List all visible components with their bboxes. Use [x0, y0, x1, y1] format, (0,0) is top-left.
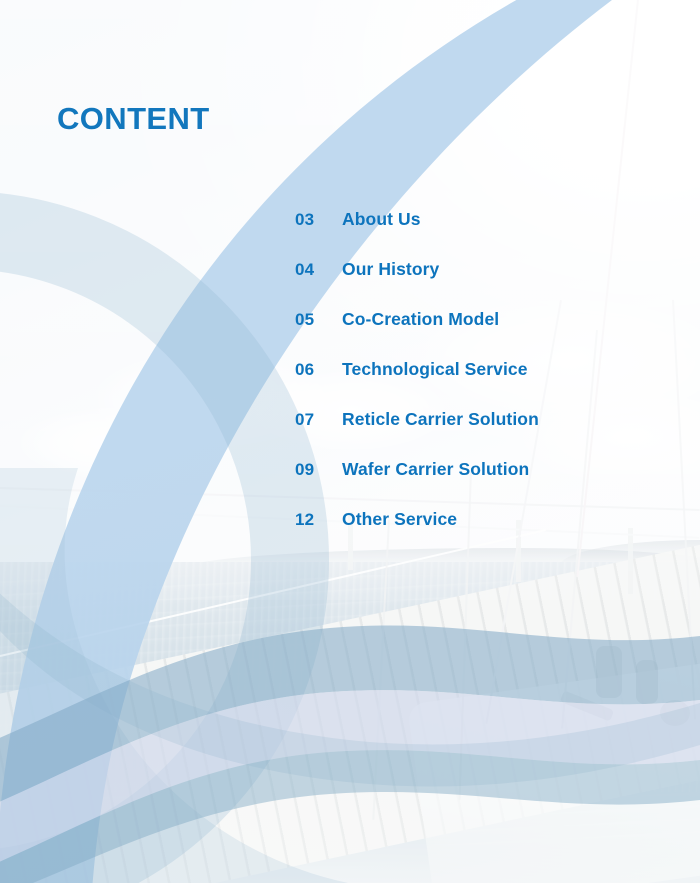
toc-item-label: Wafer Carrier Solution — [342, 459, 529, 480]
toc-item-label: Reticle Carrier Solution — [342, 409, 539, 430]
toc-item-number: 05 — [295, 310, 342, 330]
cloud — [20, 408, 200, 478]
deck-winch — [596, 646, 622, 698]
toc-item-number: 06 — [295, 360, 342, 380]
toc-item[interactable]: 04 Our History — [295, 259, 539, 309]
toc-item[interactable]: 12 Other Service — [295, 509, 539, 559]
toc-item-label: Our History — [342, 259, 439, 280]
deck-block — [660, 700, 690, 726]
toc-item-label: Technological Service — [342, 359, 528, 380]
toc-item-label: About Us — [342, 209, 421, 230]
toc-item[interactable]: 03 About Us — [295, 209, 539, 259]
toc-item[interactable]: 06 Technological Service — [295, 359, 539, 409]
toc-item[interactable]: 09 Wafer Carrier Solution — [295, 459, 539, 509]
deck-winch — [636, 660, 658, 704]
lifeline-stanchion — [628, 528, 633, 594]
content-slide: CONTENT 03 About Us 04 Our History 05 Co… — [0, 0, 700, 883]
page-title: CONTENT — [57, 101, 210, 137]
toc-item-number: 04 — [295, 260, 342, 280]
toc-item[interactable]: 05 Co-Creation Model — [295, 309, 539, 359]
toc-item-number: 03 — [295, 210, 342, 230]
toc-item-number: 12 — [295, 510, 342, 530]
toc-item[interactable]: 07 Reticle Carrier Solution — [295, 409, 539, 459]
toc-item-number: 09 — [295, 460, 342, 480]
toc-item-label: Co-Creation Model — [342, 309, 499, 330]
toc-item-number: 07 — [295, 410, 342, 430]
toc-item-label: Other Service — [342, 509, 457, 530]
table-of-contents: 03 About Us 04 Our History 05 Co-Creatio… — [295, 209, 539, 559]
